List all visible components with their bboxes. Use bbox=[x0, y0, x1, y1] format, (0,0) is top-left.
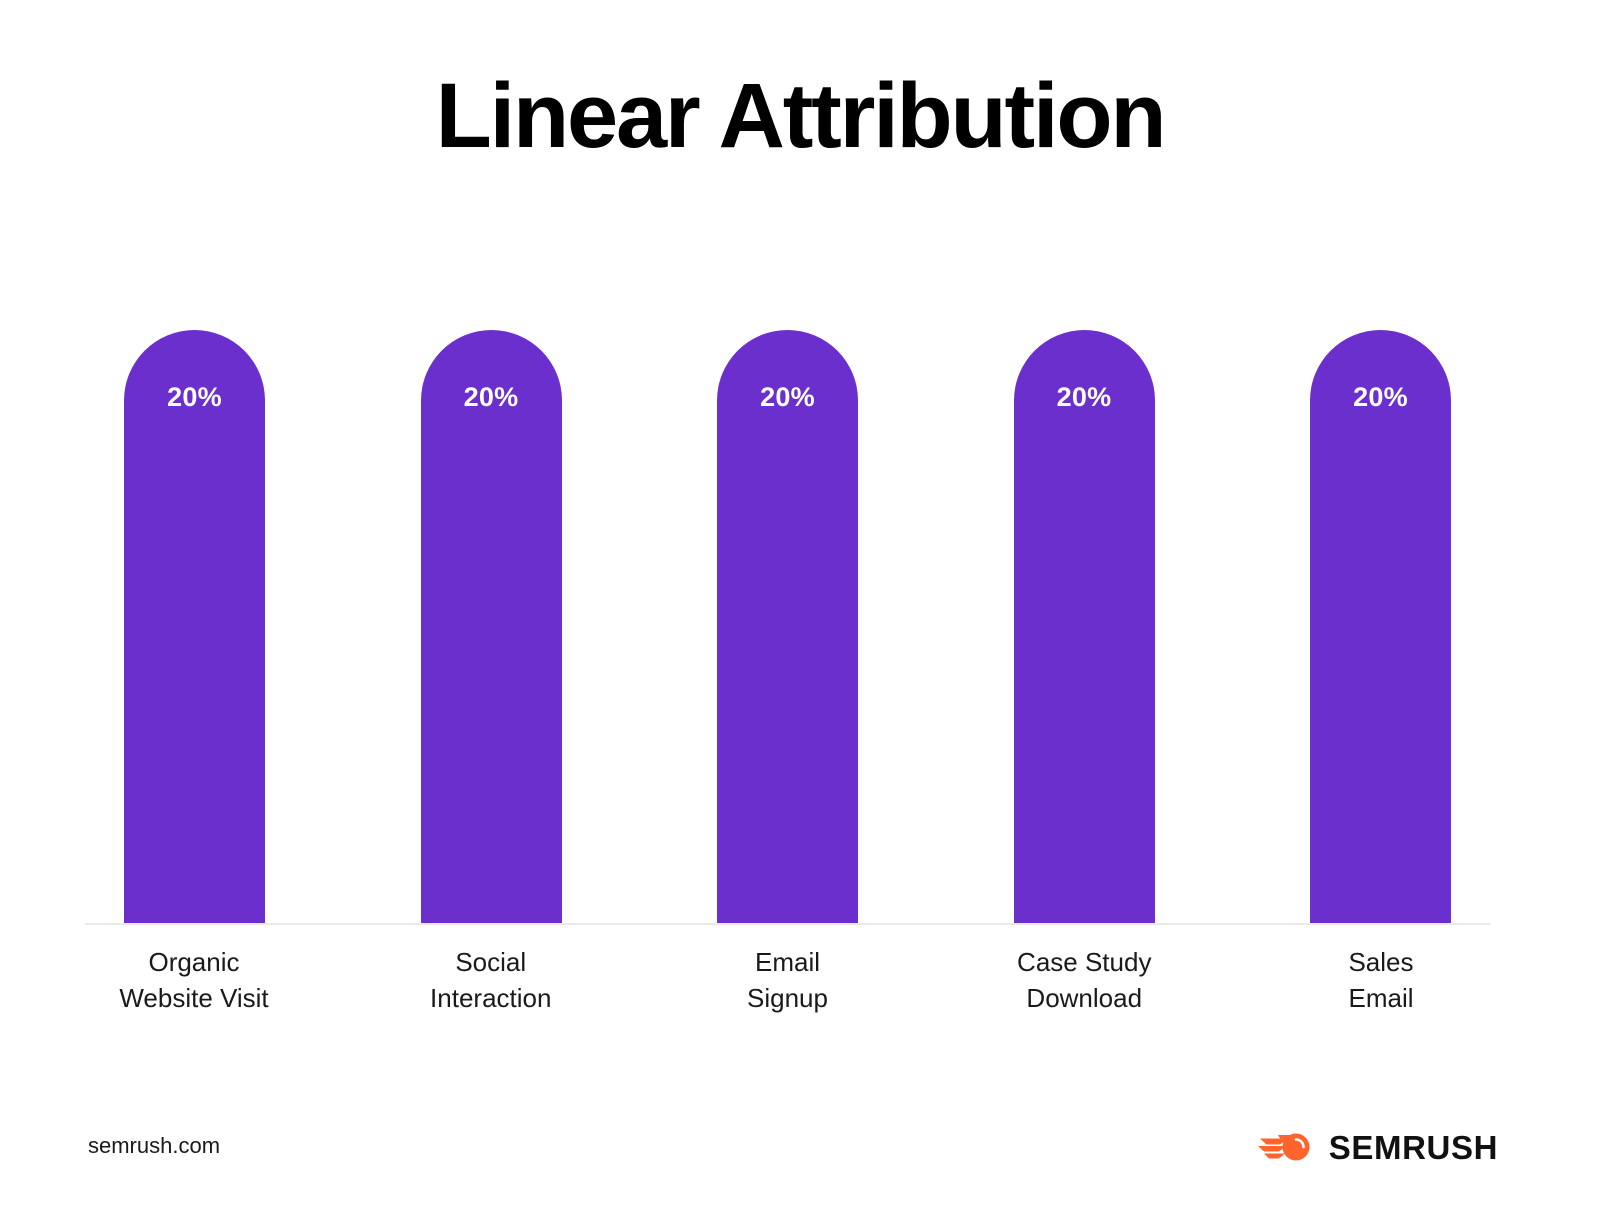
x-axis-label-organic-website-visit: Organic Website Visit bbox=[94, 944, 294, 1016]
label-line-2: Email bbox=[1281, 980, 1481, 1016]
bar-value-label: 20% bbox=[421, 382, 562, 413]
x-axis-label-sales-email: Sales Email bbox=[1281, 944, 1481, 1016]
page-title: Linear Attribution bbox=[0, 68, 1600, 165]
label-line-1: Organic bbox=[148, 947, 239, 977]
bar-series: 20% 20% 20% 20% 20% bbox=[85, 300, 1490, 924]
footer-website-url[interactable]: semrush.com bbox=[88, 1133, 220, 1159]
label-line-2: Signup bbox=[688, 980, 888, 1016]
x-axis-label-case-study-download: Case Study Download bbox=[984, 944, 1184, 1016]
label-line-2: Download bbox=[984, 980, 1184, 1016]
bar-email-signup[interactable]: 20% bbox=[717, 330, 858, 924]
x-axis-baseline bbox=[85, 923, 1490, 925]
bar-case-study-download[interactable]: 20% bbox=[1014, 330, 1155, 924]
x-axis-label-email-signup: Email Signup bbox=[688, 944, 888, 1016]
bar-value-label: 20% bbox=[1310, 382, 1451, 413]
label-line-2: Website Visit bbox=[94, 980, 294, 1016]
bar-slot-social-interaction: 20% bbox=[421, 300, 562, 924]
bar-organic-website-visit[interactable]: 20% bbox=[124, 330, 265, 924]
semrush-wordmark: SEMRUSH bbox=[1329, 1131, 1498, 1164]
label-line-1: Social bbox=[455, 947, 526, 977]
label-line-2: Interaction bbox=[391, 980, 591, 1016]
bar-slot-email-signup: 20% bbox=[717, 300, 858, 924]
label-line-1: Email bbox=[755, 947, 820, 977]
label-line-1: Case Study bbox=[1017, 947, 1151, 977]
x-axis-labels: Organic Website Visit Social Interaction… bbox=[85, 944, 1490, 1016]
bar-slot-sales-email: 20% bbox=[1310, 300, 1451, 924]
label-line-1: Sales bbox=[1348, 947, 1413, 977]
bar-value-label: 20% bbox=[124, 382, 265, 413]
bar-sales-email[interactable]: 20% bbox=[1310, 330, 1451, 924]
bar-chart: 20% 20% 20% 20% 20% bbox=[85, 300, 1490, 925]
infographic-canvas: Linear Attribution 20% 20% 20% 20% bbox=[0, 0, 1600, 1215]
bar-slot-organic-website-visit: 20% bbox=[124, 300, 265, 924]
bar-value-label: 20% bbox=[717, 382, 858, 413]
semrush-logo[interactable]: SEMRUSH bbox=[1258, 1127, 1498, 1167]
x-axis-label-social-interaction: Social Interaction bbox=[391, 944, 591, 1016]
bar-value-label: 20% bbox=[1014, 382, 1155, 413]
bar-slot-case-study-download: 20% bbox=[1014, 300, 1155, 924]
bar-social-interaction[interactable]: 20% bbox=[421, 330, 562, 924]
semrush-comet-icon bbox=[1258, 1127, 1316, 1167]
